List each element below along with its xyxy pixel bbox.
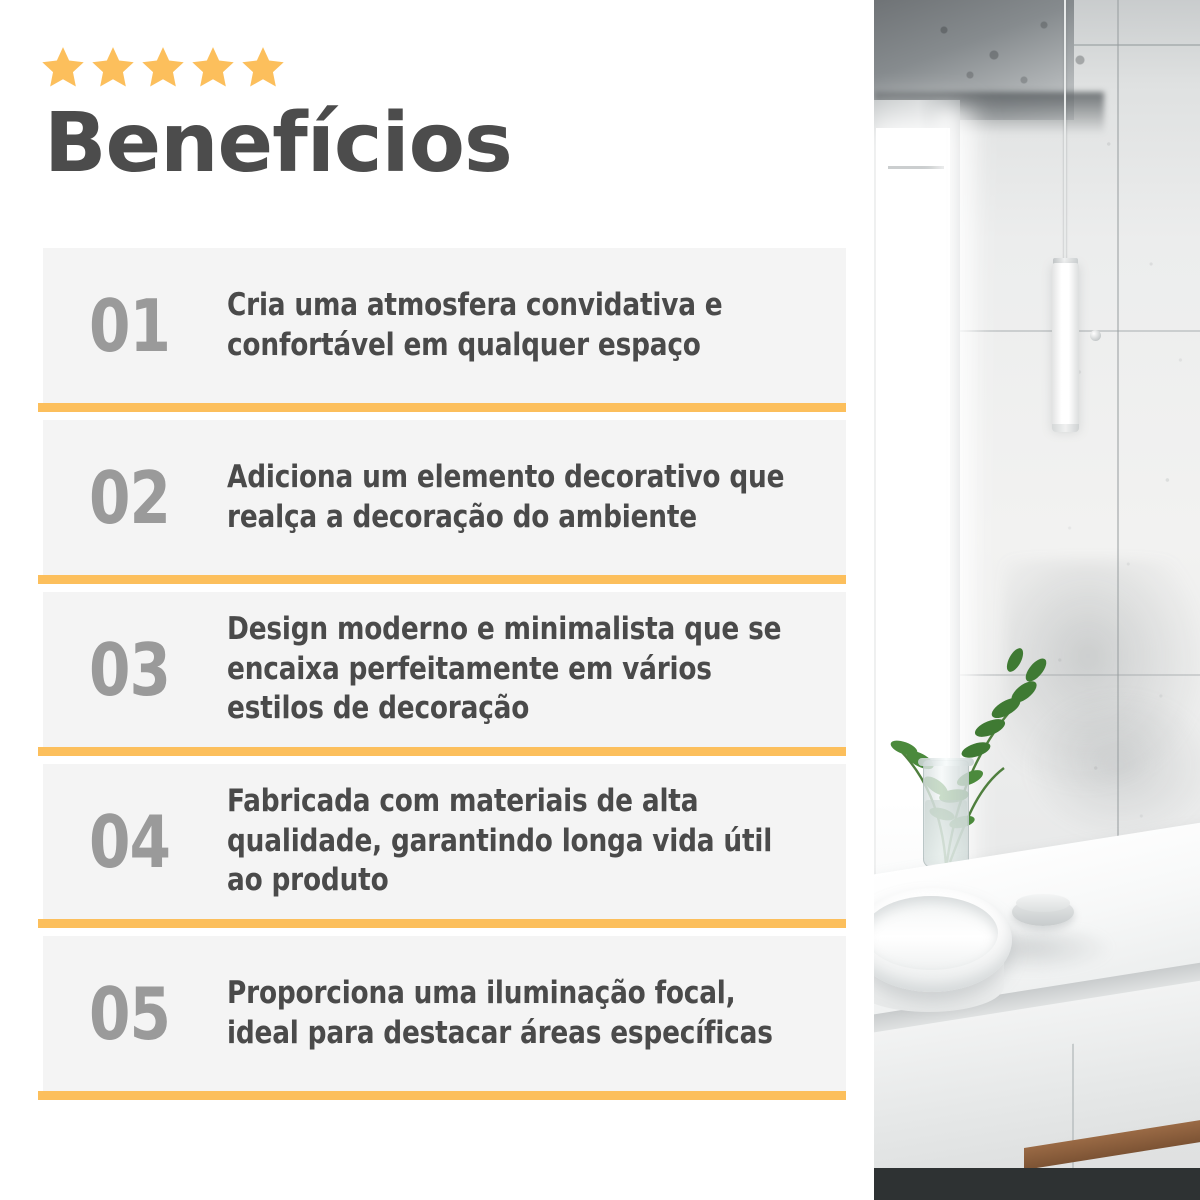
benefit-number: 03 [89,634,216,706]
benefit-card-01: 01 Cria uma atmosfera convidativa e conf… [43,248,846,403]
star-icon [240,44,286,90]
mirror-detail [888,166,944,169]
benefit-number: 01 [89,290,216,362]
benefit-number: 02 [89,462,216,534]
list-item: 01 Cria uma atmosfera convidativa e conf… [38,248,846,420]
benefit-card-02: 02 Adiciona um elemento decorativo que r… [43,420,846,575]
ceiling-texture [904,0,1104,100]
benefit-text: Proporciona uma iluminação focal, ideal … [227,974,786,1054]
pendant-cord [1064,0,1066,262]
divider-bar [38,919,846,928]
benefit-number: 04 [89,806,216,878]
benefit-text: Cria uma atmosfera convidativa e confort… [227,286,786,366]
benefit-text: Adiciona um elemento decorativo que real… [227,458,786,538]
floor [874,1168,1200,1200]
soap-dish-top [1016,894,1070,912]
vase-rim [918,758,974,766]
rating-stars [40,44,286,90]
basin-shadow [994,930,1114,974]
spacer [38,928,846,936]
list-item: 02 Adiciona um elemento decorativo que r… [38,420,846,592]
wall-fixture-dot [1090,330,1101,341]
bathroom-photo [874,0,1200,1200]
star-icon [190,44,236,90]
plant-foliage [884,600,1074,880]
benefits-list: 01 Cria uma atmosfera convidativa e conf… [38,248,846,1100]
content-panel: Benefícios 01 Cria uma atmosfera convida… [0,0,874,1200]
list-item: 05 Proporciona uma iluminação focal, ide… [38,936,846,1100]
pendant-lamp [1052,263,1079,430]
star-icon [140,44,186,90]
star-icon [40,44,86,90]
list-item: 04 Fabricada com materiais de alta quali… [38,764,846,936]
cabinet-seam [1072,1044,1074,1184]
benefit-number: 05 [89,978,216,1050]
divider-bar [38,403,846,412]
benefit-text: Design moderno e minimalista que se enca… [227,610,786,730]
benefit-text: Fabricada com materiais de alta qualidad… [227,782,786,902]
benefit-card-04: 04 Fabricada com materiais de alta quali… [43,764,846,919]
star-icon [90,44,136,90]
grout-line [1117,0,1119,860]
spacer [38,584,846,592]
vase-water [925,800,967,864]
pendant-lamp-base [1052,424,1079,432]
page-title: Benefícios [44,103,512,185]
spacer [38,756,846,764]
benefit-card-05: 05 Proporciona uma iluminação focal, ide… [43,936,846,1091]
spacer [38,412,846,420]
divider-bar [38,1091,846,1100]
divider-bar [38,575,846,584]
benefit-card-03: 03 Design moderno e minimalista que se e… [43,592,846,747]
list-item: 03 Design moderno e minimalista que se e… [38,592,846,764]
divider-bar [38,747,846,756]
benefits-poster: Benefícios 01 Cria uma atmosfera convida… [0,0,1200,1200]
